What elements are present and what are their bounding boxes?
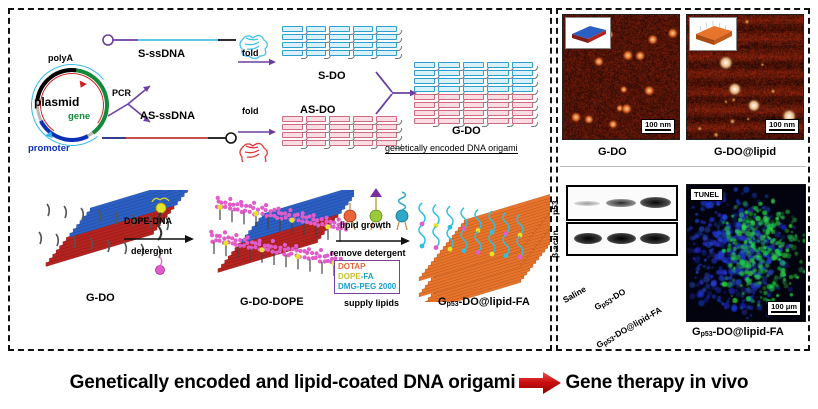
lipid-dotap: DOTAP [338,262,396,272]
tunel-tag: TUNEL [690,188,723,201]
g-do-dope-label: G-DO-DOPE [240,296,304,308]
afm-image-g-do-lipid: 100 nm [686,14,804,140]
band-actin-lane3 [640,233,670,244]
blot-label-actin: β-actin [550,230,560,258]
band-p53-lane3 [640,197,671,208]
detergent-label: detergent [131,246,172,256]
merge-arrow [372,70,418,118]
plasmid-gene-label: gene [68,111,90,122]
afm-inset-g-do-lipid [689,17,737,51]
afm-scalebar-right: 100 nm [765,119,799,135]
fold-label-top: fold [242,48,259,58]
afm-image-g-do: 100 nm [562,14,680,140]
s-do-origami [282,26,402,66]
g-do-label: G-DO [452,125,481,137]
gp53-do-lipid-fa-slab [408,190,550,302]
lipid-growth-arrow [334,234,412,248]
fold-arrow-bottom [236,118,278,162]
dope-arrow [122,232,196,246]
remove-detergent-label: remove detergent [330,248,406,258]
gp53-do-lipid-fa-label: Gp53-DO@lipid-FA [438,296,530,309]
g-do-caption: genetically encoded DNA origami [385,143,518,154]
summary-banner: Genetically encoded and lipid-coated DNA… [0,357,818,409]
g-do-slab-label: G-DO [86,292,115,304]
as-ssdna-strand [100,128,240,148]
plasmid-center-label: plasmid [34,95,79,109]
red-right-arrow-icon [517,371,563,395]
g-do-dope-slab [204,190,354,302]
as-ssdna-label: AS-ssDNA [140,110,195,122]
s-ssdna-label: S-ssDNA [138,48,185,60]
as-do-label: AS-DO [300,104,335,116]
g-do-origami [414,62,538,124]
afm-caption-g-do: G-DO [598,146,627,158]
blot-label-p53: p53 [550,200,560,215]
supply-lipids-label: supply lipids [344,298,399,308]
plasmid-promoter-label: promoter [28,143,70,154]
fold-label-bottom: fold [242,106,259,116]
blot-p53 [566,185,678,221]
band-p53-lane1 [574,201,600,206]
tunel-caption: Gp53-DO@lipid-FA [692,326,784,339]
banner-text-right: Gene therapy in vivo [565,372,748,394]
tunel-scalebar: 100 μm [767,301,801,317]
results-divider [560,166,806,167]
tunel-image: TUNEL 100 μm [686,184,806,322]
band-actin-lane1 [574,233,602,244]
s-ssdna-strand [100,30,240,50]
blot-beta-actin [566,222,678,256]
band-p53-lane2 [606,199,636,207]
afm-inset-g-do [565,17,611,49]
lipid-legend-box: DOTAP DOPE-FA DMG-PEG 2000 [334,260,400,294]
lipid-dope-fa: DOPE-FA [338,272,396,282]
s-do-label: S-DO [318,70,346,82]
as-do-origami [282,116,402,156]
band-actin-lane2 [607,233,636,244]
banner-text-left: Genetically encoded and lipid-coated DNA… [70,372,516,394]
dope-dna-label: DOPE-DNA [124,216,172,226]
lipid-dmg-peg: DMG-PEG 2000 [338,282,396,292]
afm-caption-g-do-lipid: G-DO@lipid [714,146,776,158]
lipid-growth-label: lipid growth [340,220,391,230]
afm-scalebar-left: 100 nm [641,119,675,135]
plasmid-polya-label: polyA [48,53,73,63]
